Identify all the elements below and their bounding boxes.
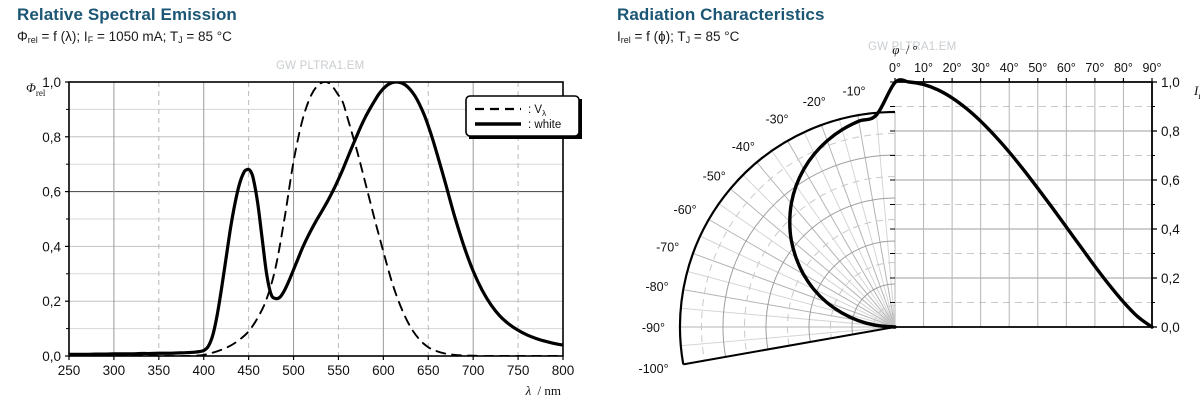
- axis-tick-label: 0,6: [1161, 173, 1180, 188]
- axis-tick-label: 0,0: [1161, 320, 1180, 335]
- panel-radiation-characteristics: Radiation Characteristics Irel = f (ɸ); …: [600, 0, 1200, 402]
- axis-tick-label: 0,8: [42, 130, 61, 145]
- axis-tick-label: 0,4: [1161, 222, 1180, 237]
- axis-tick-label: 10°: [914, 61, 933, 75]
- axis-tick-label: 500: [282, 363, 305, 378]
- axis-tick-label: 750: [507, 363, 530, 378]
- spectral-emission-chart: 2503003504004505005506006507007508000,00…: [0, 0, 600, 402]
- axis-tick-label: 0,4: [42, 239, 61, 254]
- plot-area-right: 0°10°20°30°40°50°60°70°80°90°-10°-20°-30…: [639, 42, 1200, 376]
- axis-tick-label: 300: [103, 363, 126, 378]
- axis-tick-label: 50°: [1028, 61, 1047, 75]
- r-axis-label: Irel: [1193, 83, 1200, 101]
- axis-tick-label: 0°: [889, 61, 901, 75]
- axis-tick-label: 550: [327, 363, 350, 378]
- axis-tick-label: -90°: [642, 321, 665, 335]
- axis-tick-label: 400: [192, 363, 215, 378]
- radiation-characteristics-chart: 0°10°20°30°40°50°60°70°80°90°-10°-20°-30…: [600, 0, 1200, 402]
- polar-grid: [680, 112, 895, 364]
- axis-tick-label: 40°: [1000, 61, 1019, 75]
- axis-tick-label: 90°: [1143, 61, 1162, 75]
- axis-tick-label: 600: [372, 363, 395, 378]
- axis-tick-label: 0,2: [1161, 271, 1180, 286]
- axis-tick-label: 60°: [1057, 61, 1076, 75]
- axis-tick-label: 250: [58, 363, 81, 378]
- axis-tick-label: -80°: [646, 280, 669, 294]
- axis-tick-label: 800: [552, 363, 575, 378]
- legend-label-white: : white: [528, 119, 561, 131]
- axis-tick-label: -30°: [765, 113, 788, 127]
- axis-tick-label: 70°: [1085, 61, 1104, 75]
- axis-tick-label: 0,6: [42, 185, 61, 200]
- polar-closing-line: [683, 327, 895, 364]
- axis-tick-label: -70°: [656, 240, 679, 254]
- x-axis-label: λ / nm: [525, 383, 561, 398]
- legend: : Vλ: white: [466, 96, 582, 139]
- polar-spoke: [687, 271, 895, 327]
- axis-tick-label: 350: [148, 363, 171, 378]
- axis-tick-label: 0,0: [42, 349, 61, 364]
- angle-axis-label: φ / °: [892, 42, 918, 57]
- axis-tick-label: 0,8: [1161, 124, 1180, 139]
- panel-relative-spectral-emission: Relative Spectral Emission Φrel = f (λ);…: [0, 0, 600, 402]
- axis-tick-label: 80°: [1114, 61, 1133, 75]
- axis-tick-label: 650: [417, 363, 440, 378]
- axis-tick-label: 1,0: [1161, 75, 1180, 90]
- axis-tick-label: 450: [237, 363, 260, 378]
- axis-tick-label: 20°: [943, 61, 962, 75]
- legend-box: [466, 96, 579, 136]
- axis-tick-label: -50°: [703, 169, 726, 183]
- data-series-irel: [790, 80, 1152, 327]
- axis-tick-label: -20°: [803, 95, 826, 109]
- axis-tick-label: -60°: [674, 203, 697, 217]
- axis-tick-label: 30°: [971, 61, 990, 75]
- axis-tick-label: 700: [462, 363, 485, 378]
- axis-tick-label: -40°: [732, 140, 755, 154]
- axis-tick-label: -10°: [842, 85, 865, 99]
- axis-tick-label: -100°: [639, 362, 669, 376]
- axis-tick-label: 0,2: [42, 294, 61, 309]
